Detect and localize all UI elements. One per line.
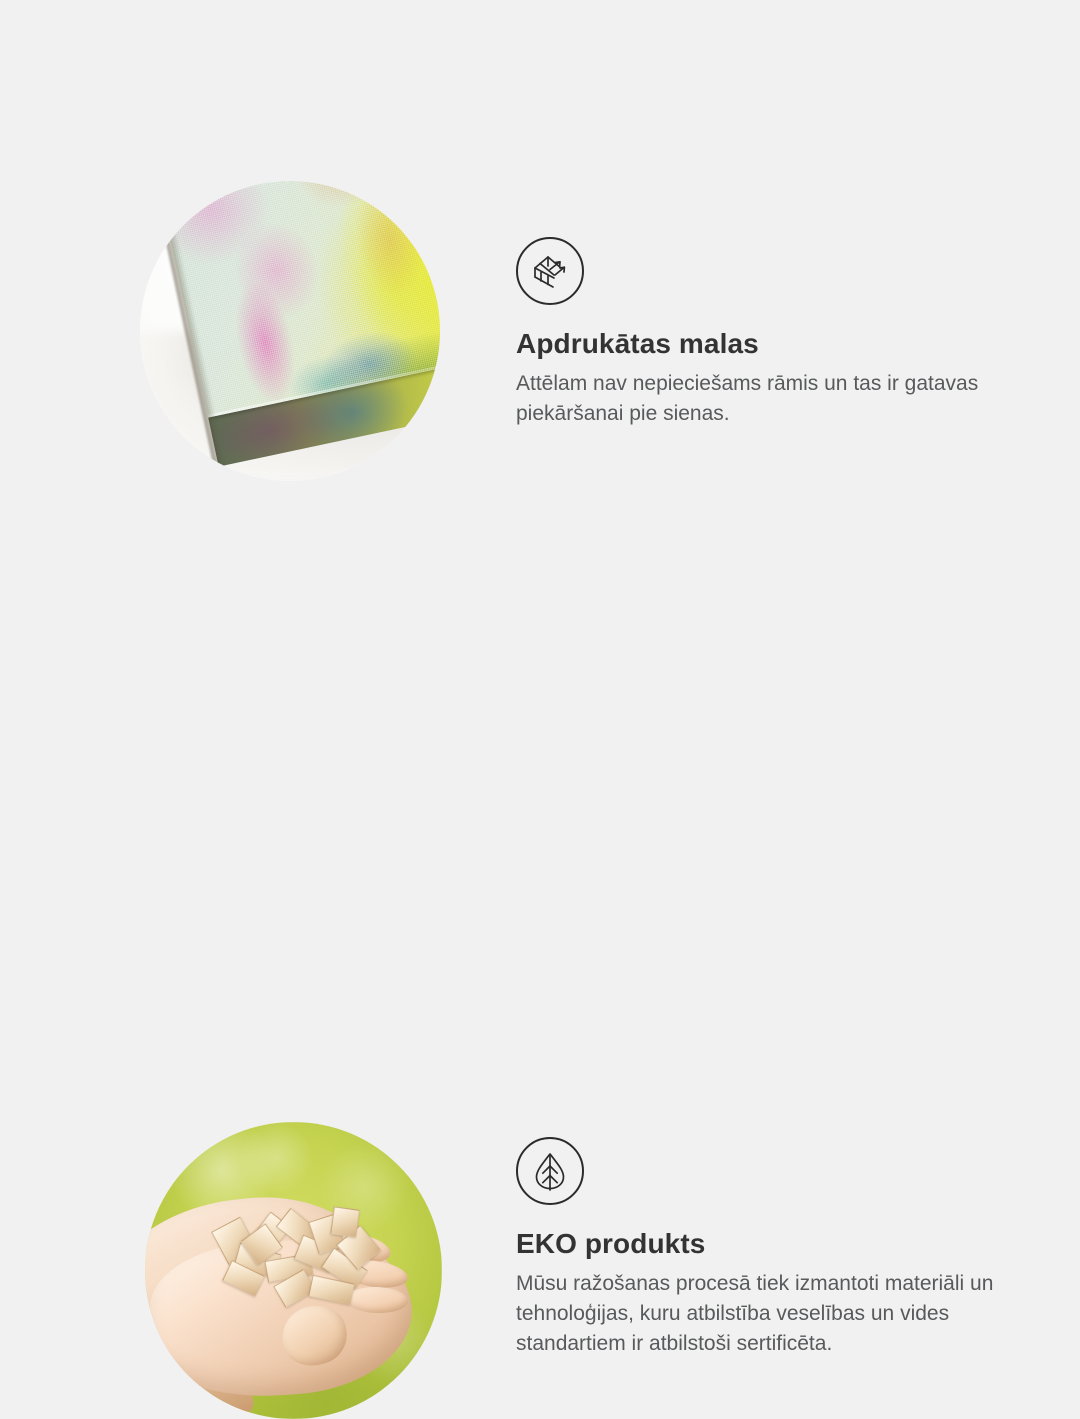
- feature-content-printed-edges: Apdrukātas malas Attēlam nav nepieciešam…: [516, 237, 1016, 429]
- canvas-corner-photo: [140, 181, 440, 481]
- wood-chips-pile: [210, 1205, 394, 1324]
- feature-title: EKO produkts: [516, 1227, 1016, 1261]
- feature-title: Apdrukātas malas: [516, 327, 1016, 361]
- leaf-icon: [516, 1137, 584, 1205]
- feature-block-eko-product: EKO produkts Mūsu ražošanas procesā tiek…: [0, 540, 1080, 1080]
- wrapped-canvas-edges-icon: [516, 237, 584, 305]
- hands-with-wood-chips-photo: [145, 1122, 442, 1419]
- feature-description: Attēlam nav nepieciešams rāmis un tas ir…: [516, 369, 1008, 429]
- feature-description: Mūsu ražošanas procesā tiek izmantoti ma…: [516, 1269, 1008, 1359]
- feature-block-printed-edges: Apdrukātas malas Attēlam nav nepieciešam…: [0, 0, 1080, 540]
- infographic-page: Apdrukātas malas Attēlam nav nepieciešam…: [0, 0, 1080, 1080]
- feature-content-eko-product: EKO produkts Mūsu ražošanas procesā tiek…: [516, 1137, 1016, 1359]
